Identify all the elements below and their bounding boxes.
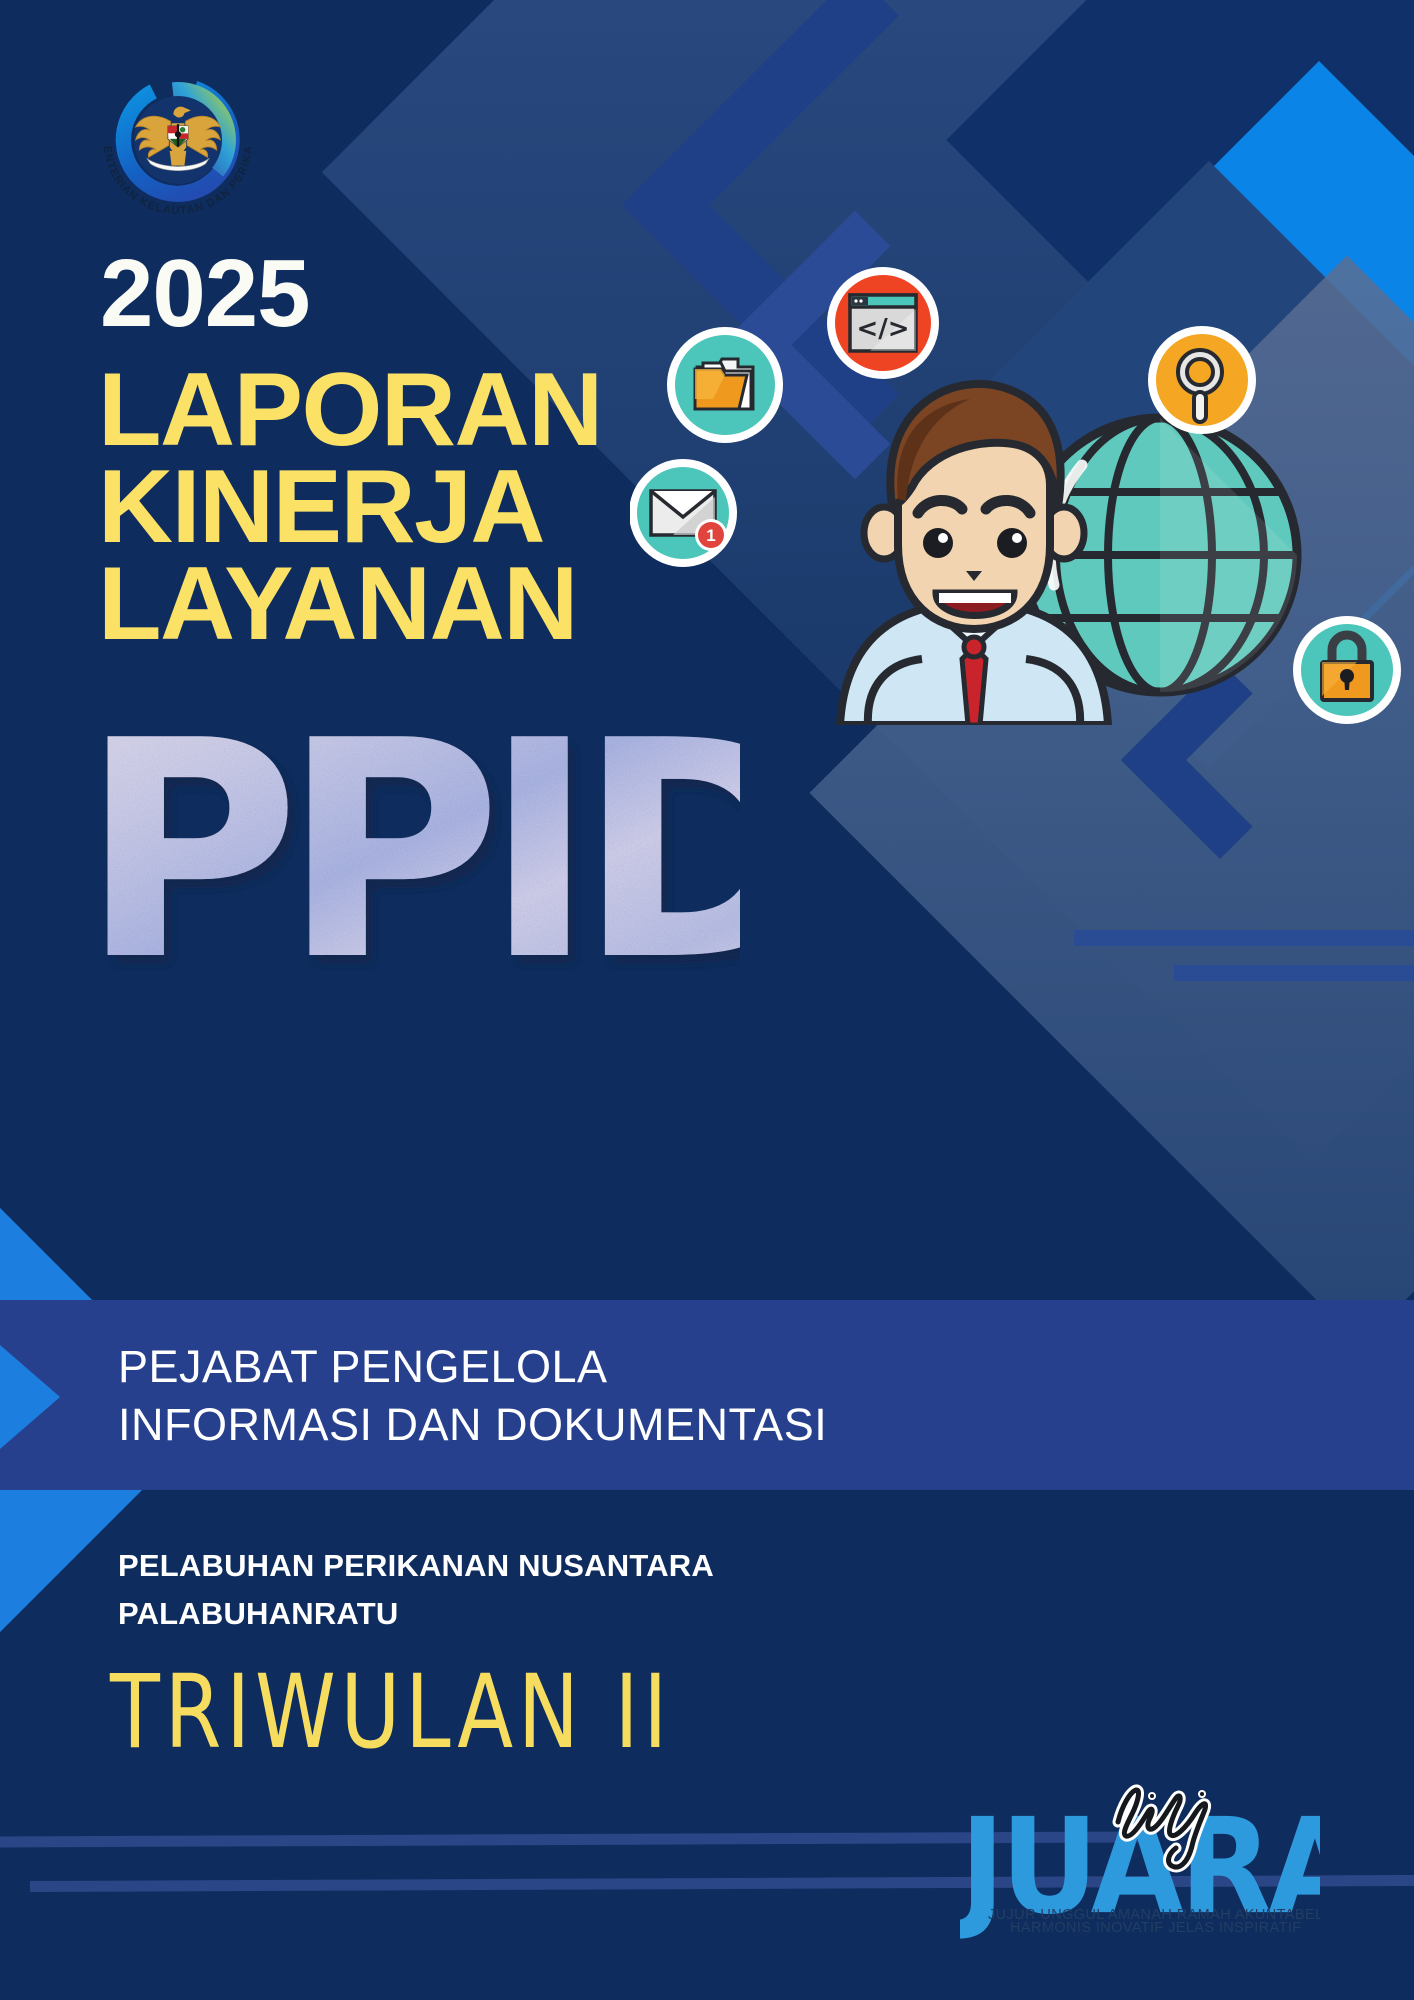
ppid-acronym-text: PPID (80, 700, 740, 1000)
juara-tagline-line-2: HARMONIS INOVATIF JELAS INSPIRATIF (1010, 1920, 1302, 1936)
organization-line-2: PALABUHANRATU (118, 1590, 1018, 1638)
juara-logo: JUARA JUJUR UNGGUL AMANAH RAMAH AKUNTABE… (960, 1780, 1320, 1960)
envelope-icon: 1 (630, 459, 737, 567)
accent-bar-right-lower (1174, 965, 1414, 981)
code-symbol-text: </> (856, 314, 909, 344)
code-window-icon: </> (827, 267, 939, 379)
folder-icon (667, 327, 783, 443)
padlock-icon (1293, 616, 1401, 724)
band-arrow-marker (0, 1345, 60, 1449)
subtitle-line-1: PEJABAT PENGELOLA (118, 1338, 1118, 1396)
kkp-ministry-logo: KEMENTERIAN KELAUTAN DAN PERIKANAN (78, 58, 278, 218)
ppid-wordmark: PPID (80, 700, 740, 1000)
search-magnifier-icon (1148, 326, 1256, 434)
organization-block: PELABUHAN PERIKANAN NUSANTARA PALABUHANR… (118, 1542, 1018, 1638)
envelope-badge-count: 1 (706, 526, 715, 545)
person-graphic (840, 384, 1108, 725)
accent-bar-right-upper (1074, 930, 1414, 946)
report-cover-page: KEMENTERIAN KELAUTAN DAN PERIKANAN 2025 … (0, 0, 1414, 2000)
report-period: TRIWULAN II (110, 1662, 672, 1763)
organization-line-1: PELABUHAN PERIKANAN NUSANTARA (118, 1542, 1018, 1590)
subtitle-line-2: INFORMASI DAN DOKUMENTASI (118, 1396, 1118, 1454)
cover-illustration: </> (630, 255, 1414, 725)
subtitle-block: PEJABAT PENGELOLA INFORMASI DAN DOKUMENT… (118, 1338, 1118, 1453)
